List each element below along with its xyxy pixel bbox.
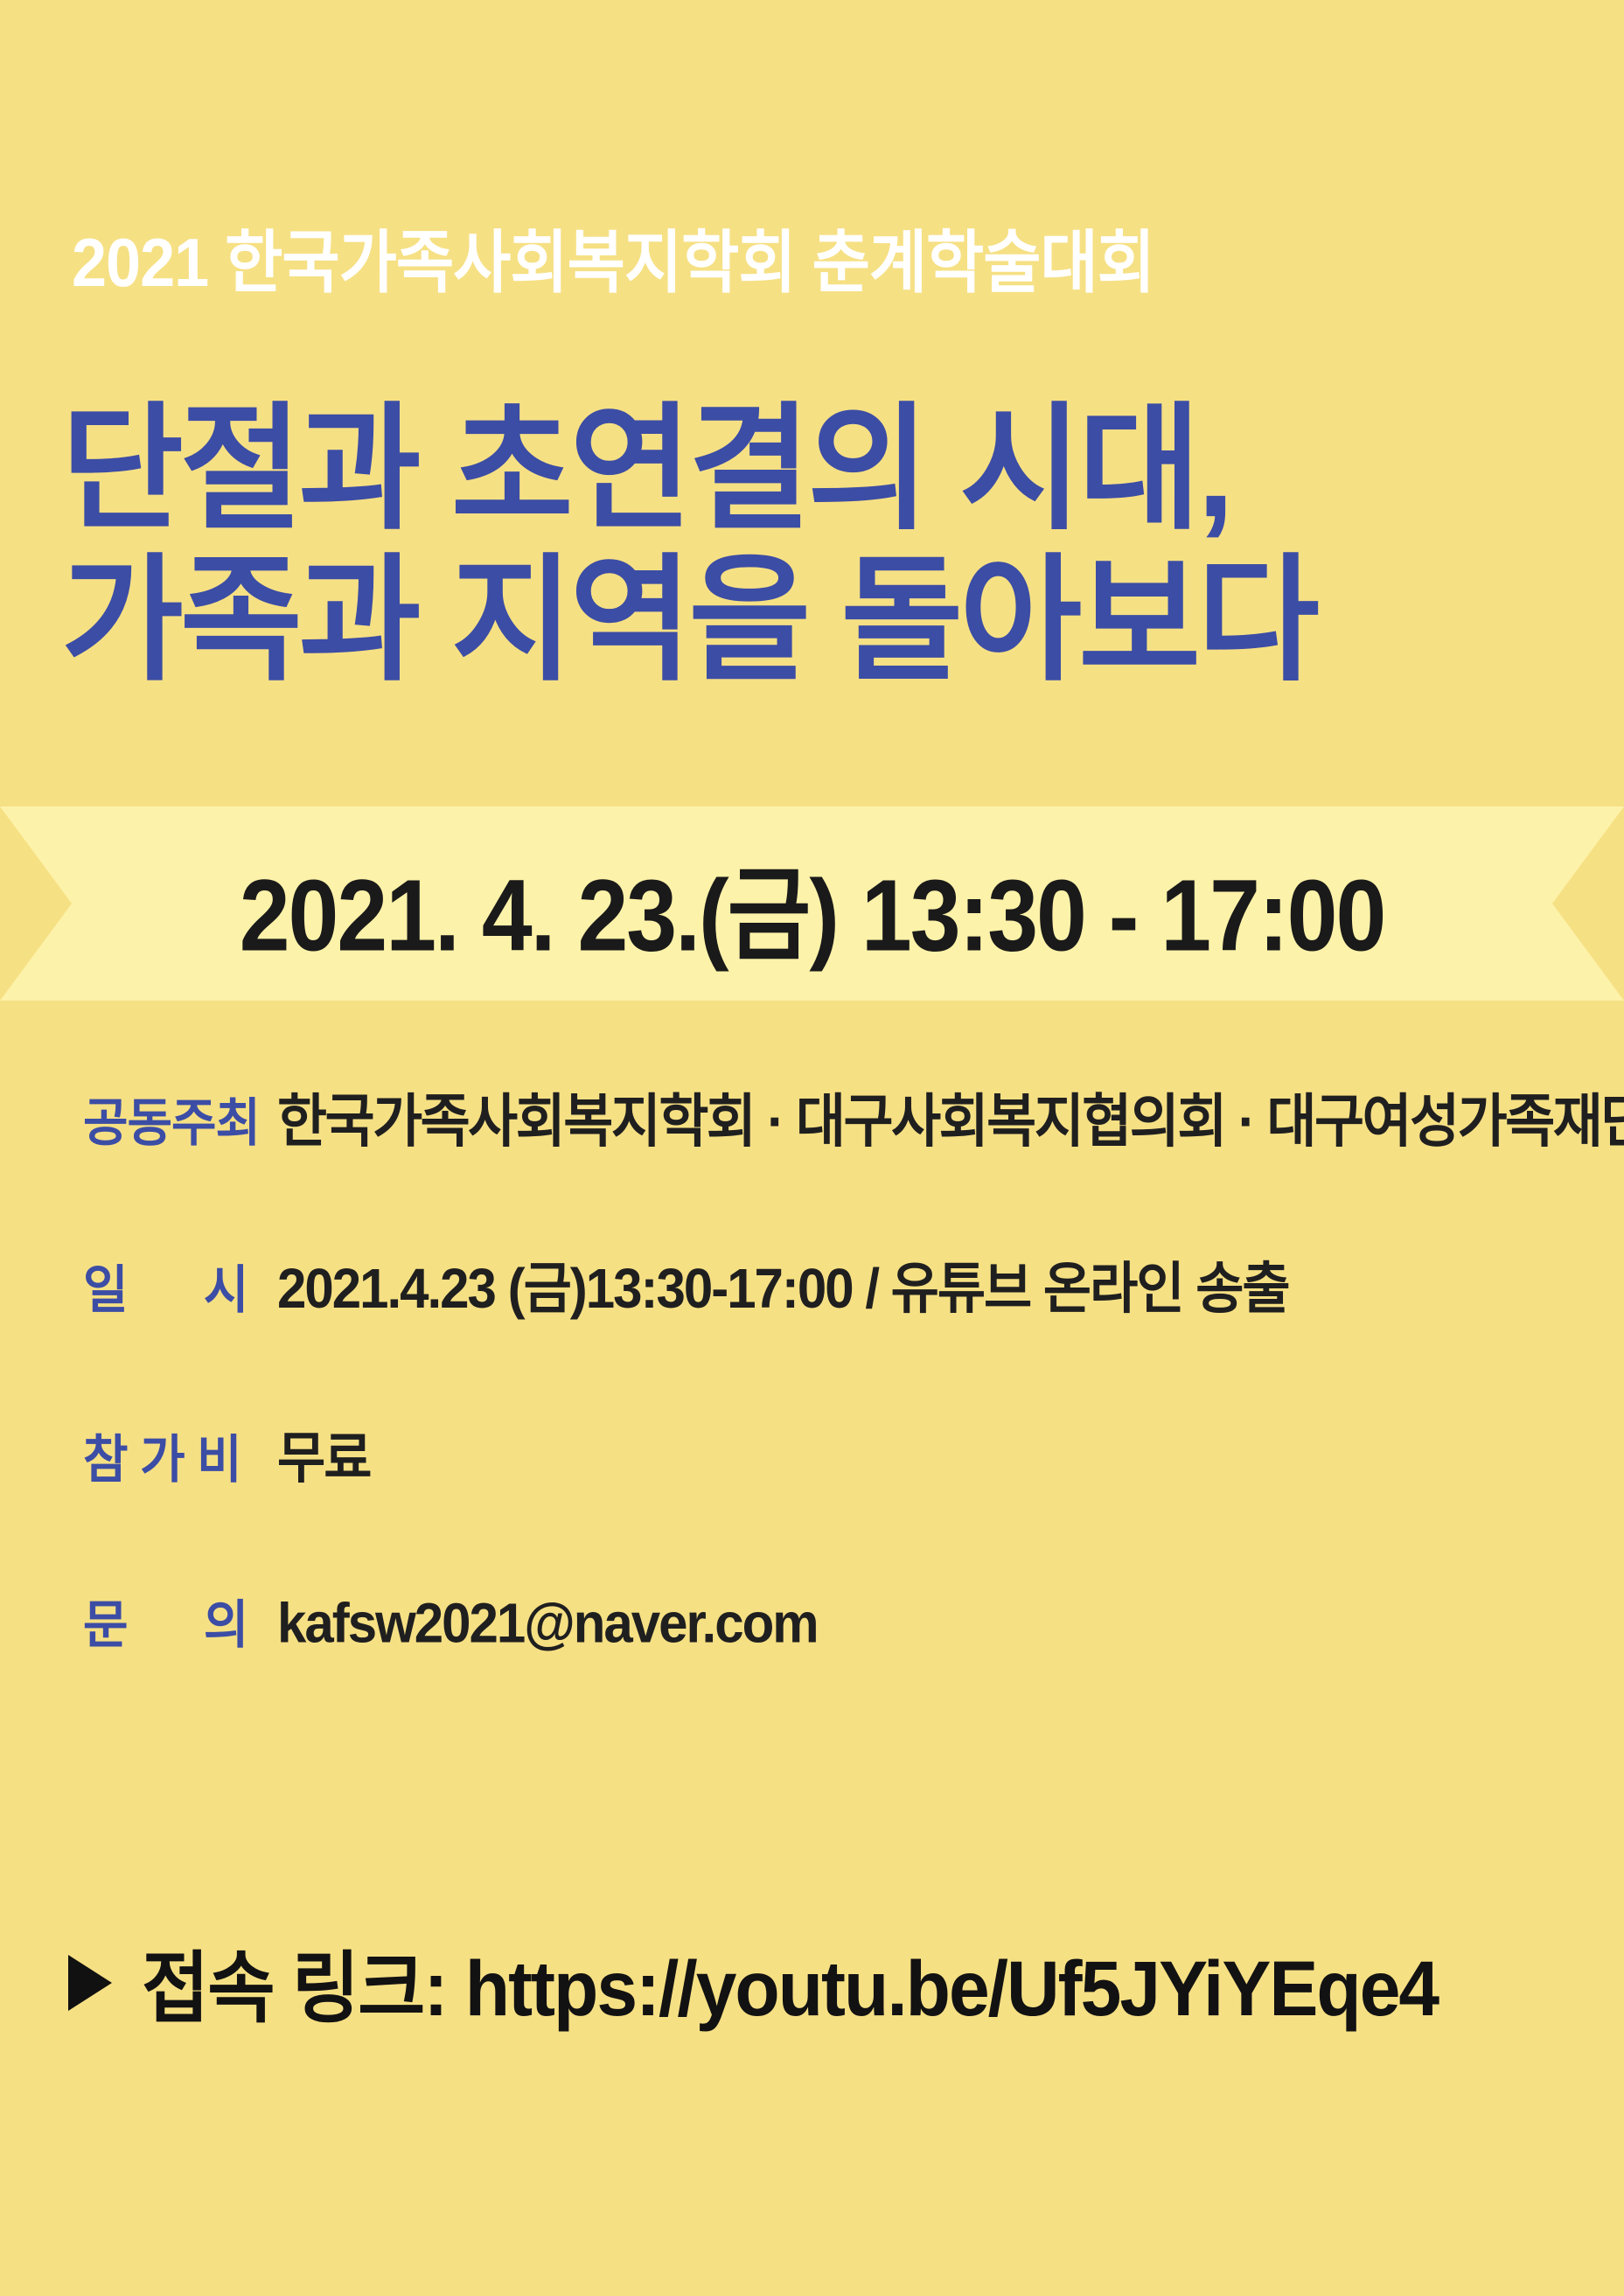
detail-label-contact: 문 의 bbox=[83, 1583, 277, 1658]
date-ribbon-banner: 2021. 4. 23.(금) 13:30 - 17:00 bbox=[0, 806, 1624, 1001]
detail-value-fee: 무료 bbox=[277, 1413, 1605, 1494]
detail-label-datetime: 일 시 bbox=[83, 1248, 277, 1323]
play-triangle-icon bbox=[68, 1955, 112, 2011]
poster-title: 단절과 초연결의 시대, 가족과 지역을 돌아보다 bbox=[61, 392, 1565, 695]
stream-link-line[interactable]: 접속 링크: https://youtu.be/Uf5JYiYEqe4 bbox=[68, 1930, 1438, 2035]
detail-row-datetime: 일 시 2021.4.23 (금)13:30-17:00 / 유튜브 온라인 송… bbox=[83, 1244, 1605, 1413]
detail-value-datetime: 2021.4.23 (금)13:30-17:00 / 유튜브 온라인 송출 bbox=[277, 1244, 1605, 1324]
poster-eyebrow-heading: 2021 한국가족사회복지학회 춘계학술대회 bbox=[72, 229, 1154, 297]
event-details-list: 공동주최 한국가족사회복지학회 · 대구사회복지협의회 · 대구여성가족재단 일… bbox=[83, 1074, 1605, 1753]
event-datetime: 2021. 4. 23.(금) 13:30 - 17:00 bbox=[240, 832, 1385, 980]
poster-title-line-2: 가족과 지역을 돌아보다 bbox=[61, 543, 1565, 699]
poster-title-line-1: 단절과 초연결의 시대, bbox=[61, 392, 1565, 548]
stream-link-text[interactable]: 접속 링크: https://youtu.be/Uf5JYiYEqe4 bbox=[142, 1926, 1438, 2038]
detail-row-fee: 참 가 비 무료 bbox=[83, 1413, 1605, 1583]
detail-row-host: 공동주최 한국가족사회복지학회 · 대구사회복지협의회 · 대구여성가족재단 bbox=[83, 1074, 1605, 1244]
detail-label-host: 공동주최 bbox=[83, 1081, 277, 1156]
detail-row-contact: 문 의 kafsw2021@naver.com bbox=[83, 1583, 1605, 1753]
detail-value-host: 한국가족사회복지학회 · 대구사회복지협의회 · 대구여성가족재단 bbox=[277, 1074, 1624, 1157]
detail-label-fee: 참 가 비 bbox=[83, 1418, 277, 1493]
conference-poster: 2021 한국가족사회복지학회 춘계학술대회 단절과 초연결의 시대, 가족과 … bbox=[0, 0, 1624, 2296]
detail-value-contact: kafsw2021@naver.com bbox=[277, 1591, 1605, 1655]
